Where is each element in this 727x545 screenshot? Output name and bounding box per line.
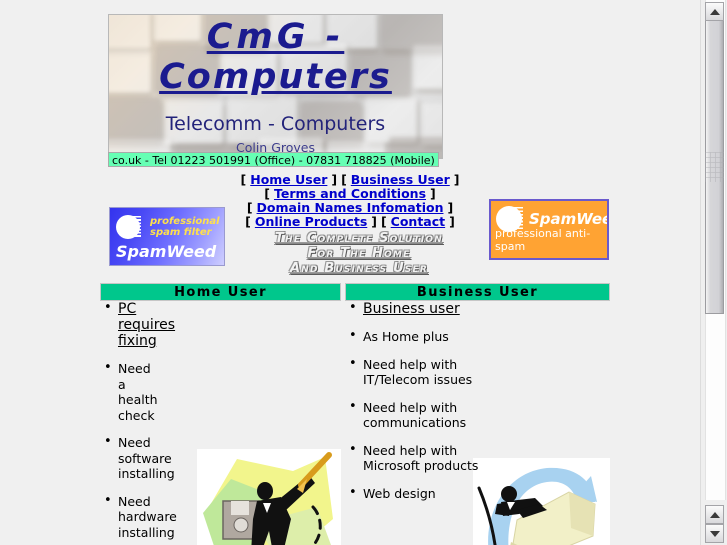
nav-row-1: [ Home User ] [ Business User ] bbox=[0, 173, 700, 187]
scrollbar-up-button-top[interactable] bbox=[705, 2, 724, 21]
spamweed-right-tagline: professional anti-spam bbox=[495, 227, 607, 253]
user-type-table: Home User Business User bbox=[100, 283, 610, 545]
spamweed-left-tagline-line2: spam filter bbox=[150, 227, 220, 238]
spamweed-left-brand-b: Weed bbox=[166, 242, 216, 261]
vertical-scrollbar[interactable] bbox=[700, 0, 727, 545]
spamweed-left-brand: SpamWeed bbox=[116, 242, 216, 261]
site-banner: CmG - Computers Telecomm - Computers Col… bbox=[108, 14, 443, 159]
triangle-down-icon bbox=[710, 531, 720, 537]
bracket-open: [ bbox=[264, 186, 270, 201]
spamweed-ad-right[interactable]: SpamWeed professional anti-spam bbox=[489, 199, 609, 260]
list-item: Need help with IT/Telecom issues bbox=[345, 357, 495, 388]
bracket-open: [ bbox=[247, 200, 253, 215]
scrollbar-down-button[interactable] bbox=[705, 524, 724, 543]
slogan-line-1: The Complete Solution bbox=[228, 231, 490, 246]
nav-link-home-user[interactable]: Home User bbox=[250, 172, 327, 187]
site-slogan: The Complete Solution For The Home And B… bbox=[228, 231, 490, 276]
bracket-close: ] bbox=[430, 186, 436, 201]
scrollbar-grip-texture bbox=[705, 152, 724, 182]
banner-title-line2: Computers bbox=[109, 57, 442, 97]
spamweed-logo-icon bbox=[116, 215, 142, 241]
spamweed-left-tagline-line1: professional bbox=[150, 216, 220, 227]
home-user-clipart bbox=[197, 449, 341, 545]
list-item: Need help with Microsoft products bbox=[345, 443, 495, 474]
bracket-open: [ bbox=[341, 172, 347, 187]
table-cell-business-user: Business user As Home plus Need help wit… bbox=[345, 301, 610, 545]
table-header-business-user: Business User bbox=[345, 283, 610, 301]
home-user-list: PC requires fixing Need a health check N… bbox=[100, 301, 162, 545]
bracket-close: ] bbox=[454, 172, 460, 187]
table-cell-home-user: PC requires fixing Need a health check N… bbox=[100, 301, 341, 545]
nav-link-contact[interactable]: Contact bbox=[391, 214, 445, 229]
business-item-link-business-user[interactable]: Business user bbox=[363, 301, 460, 317]
page-viewport: CmG - Computers Telecomm - Computers Col… bbox=[0, 0, 700, 545]
spamweed-ad-left[interactable]: professional spam filter SpamWeed bbox=[109, 207, 225, 266]
nav-link-online-products[interactable]: Online Products bbox=[255, 214, 367, 229]
slogan-line-3: And Business User bbox=[228, 261, 490, 276]
home-user-clipart-svg bbox=[197, 449, 341, 545]
bracket-open: [ bbox=[245, 214, 251, 229]
bracket-open: [ bbox=[381, 214, 387, 229]
slogan-line-2: For The Home bbox=[228, 246, 490, 261]
bracket-close: ] bbox=[331, 172, 337, 187]
triangle-up-icon bbox=[710, 512, 720, 518]
table-header-home-user: Home User bbox=[100, 283, 341, 301]
nav-link-business-user[interactable]: Business User bbox=[351, 172, 450, 187]
scrollbar-up-button[interactable] bbox=[705, 505, 724, 524]
list-item: Need software installing bbox=[100, 435, 162, 482]
list-item: Need help with communications bbox=[345, 400, 495, 431]
spamweed-right-brand: SpamWeed bbox=[529, 210, 609, 228]
spamweed-left-brand-a: Spam bbox=[116, 242, 166, 261]
bracket-close: ] bbox=[449, 214, 455, 229]
bracket-close: ] bbox=[371, 214, 377, 229]
list-item: Need a health check bbox=[100, 361, 162, 423]
contact-bar: co.uk - Tel 01223 501991 (Office) - 0783… bbox=[108, 152, 439, 167]
business-user-list: Business user As Home plus Need help wit… bbox=[345, 301, 495, 501]
bracket-close: ] bbox=[447, 200, 453, 215]
table-body-row: PC requires fixing Need a health check N… bbox=[100, 301, 610, 545]
home-item-link-pc-requires-fixing[interactable]: PC requires fixing bbox=[118, 301, 175, 349]
spamweed-left-tagline: professional spam filter bbox=[150, 216, 220, 238]
nav-link-terms-and-conditions[interactable]: Terms and Conditions bbox=[274, 186, 426, 201]
banner-subtitle: Telecomm - Computers bbox=[109, 113, 442, 135]
nav-link-domain-names-information[interactable]: Domain Names Infomation bbox=[257, 200, 444, 215]
list-item[interactable]: PC requires fixing bbox=[100, 301, 162, 349]
bracket-open: [ bbox=[241, 172, 247, 187]
triangle-up-icon bbox=[710, 9, 720, 15]
list-item[interactable]: Business user bbox=[345, 301, 495, 317]
list-item: Need hardware installing bbox=[100, 494, 162, 541]
list-item: Web design bbox=[345, 486, 495, 502]
banner-title-line1: CmG - bbox=[109, 17, 442, 57]
list-item: As Home plus bbox=[345, 329, 495, 345]
table-header-row: Home User Business User bbox=[100, 283, 610, 301]
